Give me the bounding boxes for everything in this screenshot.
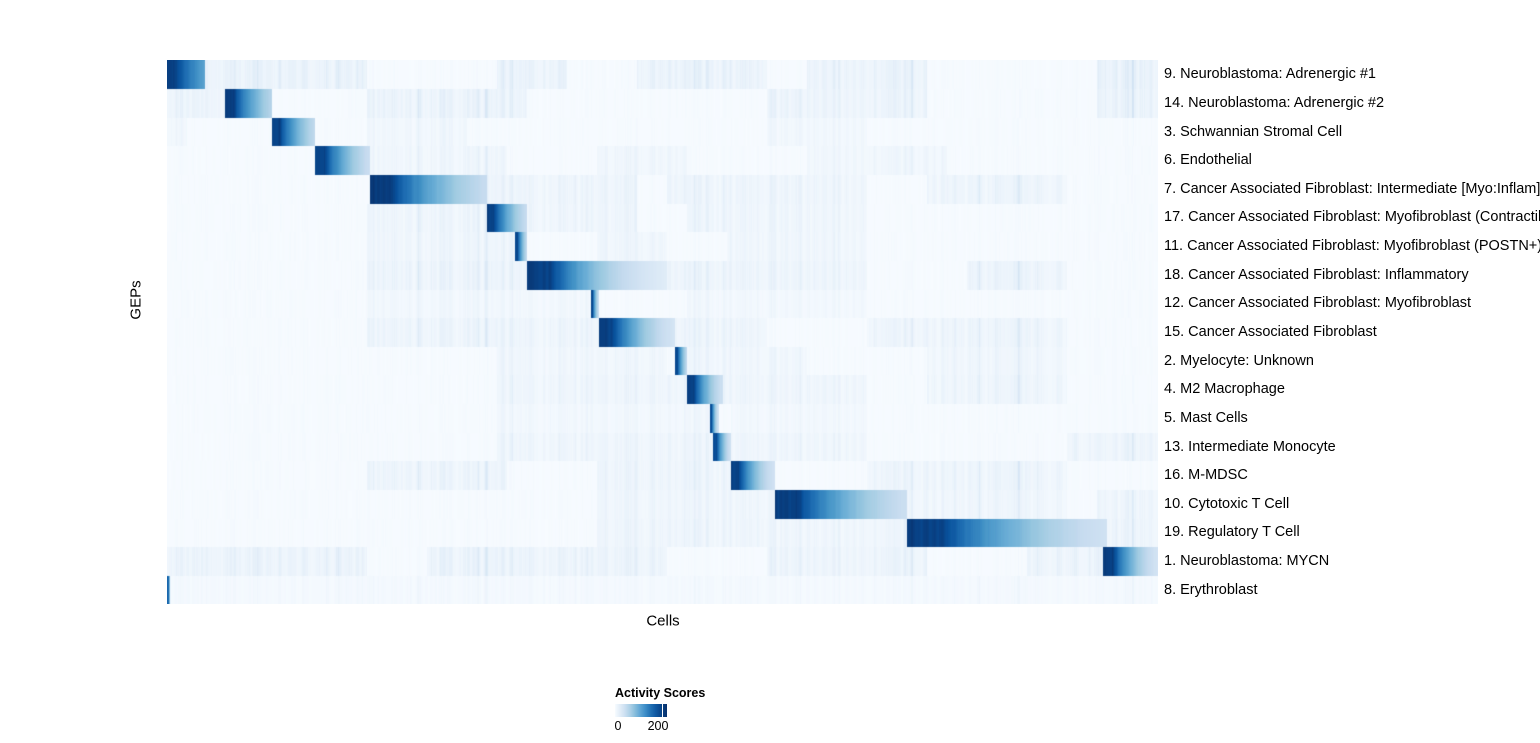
row-label: 12. Cancer Associated Fibroblast: Myofib… bbox=[1164, 296, 1471, 311]
y-axis-title: GEPs bbox=[129, 280, 144, 319]
row-label: 10. Cytotoxic T Cell bbox=[1164, 497, 1289, 512]
row-label: 18. Cancer Associated Fibroblast: Inflam… bbox=[1164, 267, 1469, 282]
legend-ticklabel-min: 0 bbox=[615, 720, 622, 733]
x-axis-title: Cells bbox=[646, 614, 679, 629]
legend-tick-mark bbox=[662, 704, 663, 717]
row-label: 13. Intermediate Monocyte bbox=[1164, 439, 1336, 454]
row-label: 4. M2 Macrophage bbox=[1164, 382, 1285, 397]
row-label: 1. Neuroblastoma: MYCN bbox=[1164, 554, 1329, 569]
row-label: 2. Myelocyte: Unknown bbox=[1164, 353, 1314, 368]
row-label: 15. Cancer Associated Fibroblast bbox=[1164, 325, 1377, 340]
row-label: 9. Neuroblastoma: Adrenergic #1 bbox=[1164, 67, 1376, 82]
heatmap-figure: GEPs Cells 9. Neuroblastoma: Adrenergic … bbox=[0, 0, 1540, 743]
row-label: 8. Erythroblast bbox=[1164, 582, 1258, 597]
row-label: 7. Cancer Associated Fibroblast: Interme… bbox=[1164, 182, 1540, 197]
row-label: 3. Schwannian Stromal Cell bbox=[1164, 124, 1342, 139]
row-label: 16. M-MDSC bbox=[1164, 468, 1248, 483]
legend-title: Activity Scores bbox=[615, 687, 705, 700]
legend-ticklabel-max: 200 bbox=[648, 720, 669, 733]
row-label: 5. Mast Cells bbox=[1164, 411, 1248, 426]
row-label: 14. Neuroblastoma: Adrenergic #2 bbox=[1164, 96, 1384, 111]
heatmap-canvas bbox=[167, 60, 1158, 604]
legend-colorbar bbox=[615, 704, 667, 717]
heatmap-plot-area bbox=[167, 60, 1158, 604]
row-label: 19. Regulatory T Cell bbox=[1164, 525, 1300, 540]
row-label: 6. Endothelial bbox=[1164, 153, 1252, 168]
activity-scores-legend: Activity Scores 0 200 bbox=[614, 687, 814, 743]
row-label: 11. Cancer Associated Fibroblast: Myofib… bbox=[1164, 239, 1540, 254]
row-label: 17. Cancer Associated Fibroblast: Myofib… bbox=[1164, 210, 1540, 225]
row-label-list: 9. Neuroblastoma: Adrenergic #114. Neuro… bbox=[1164, 60, 1540, 604]
